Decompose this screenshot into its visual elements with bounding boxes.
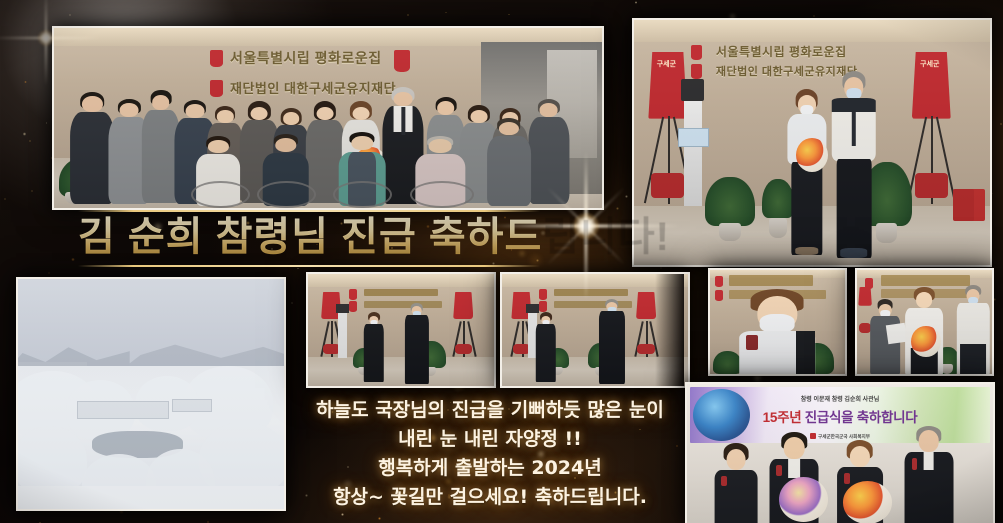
message-line-4: 항상~ 꽃길만 걸으세요! 축하드립니다.	[284, 483, 696, 512]
title-rule-bottom	[78, 265, 540, 267]
page-title: 김 순희 참령님 진급 축하드립니다!	[78, 212, 540, 265]
congratulation-message: 하늘도 국장님의 진급을 기뻐하듯 많은 눈이 내린 눈 내린 자양정 !! 행…	[284, 396, 696, 512]
photo-officer-portrait	[708, 268, 847, 376]
photo-snow-landscape	[16, 277, 286, 511]
photo-group-photo-lobby: 서울특별시립 평화로운집 재단법인 대한구세군유지재단	[52, 26, 604, 210]
photo-ceremony-speech-2	[500, 272, 690, 388]
photo-bouquet-presentation	[855, 268, 994, 376]
message-line-3: 행복하게 출발하는 2024년	[284, 454, 696, 483]
photo-promotion-ceremony-banner: 참령 이문재 참령 김순희 사관님 15주년 진급식을 축하합니다 구세군한국군…	[685, 382, 995, 523]
message-line-1: 하늘도 국장님의 진급을 기뻐하듯 많은 눈이	[284, 396, 696, 425]
photo-two-officers-flowers: 서울특별시립 평화로운집 재단법인 대한구세군유지재단 구세군 구세군	[632, 18, 992, 267]
photo-collage-canvas: 서울특별시립 평화로운집 재단법인 대한구세군유지재단	[0, 0, 1003, 523]
title-band: 김 순희 참령님 진급 축하드립니다!	[78, 210, 540, 267]
photo-ceremony-speech-1	[306, 272, 496, 388]
message-line-2: 내린 눈 내린 자양정 !!	[284, 425, 696, 454]
